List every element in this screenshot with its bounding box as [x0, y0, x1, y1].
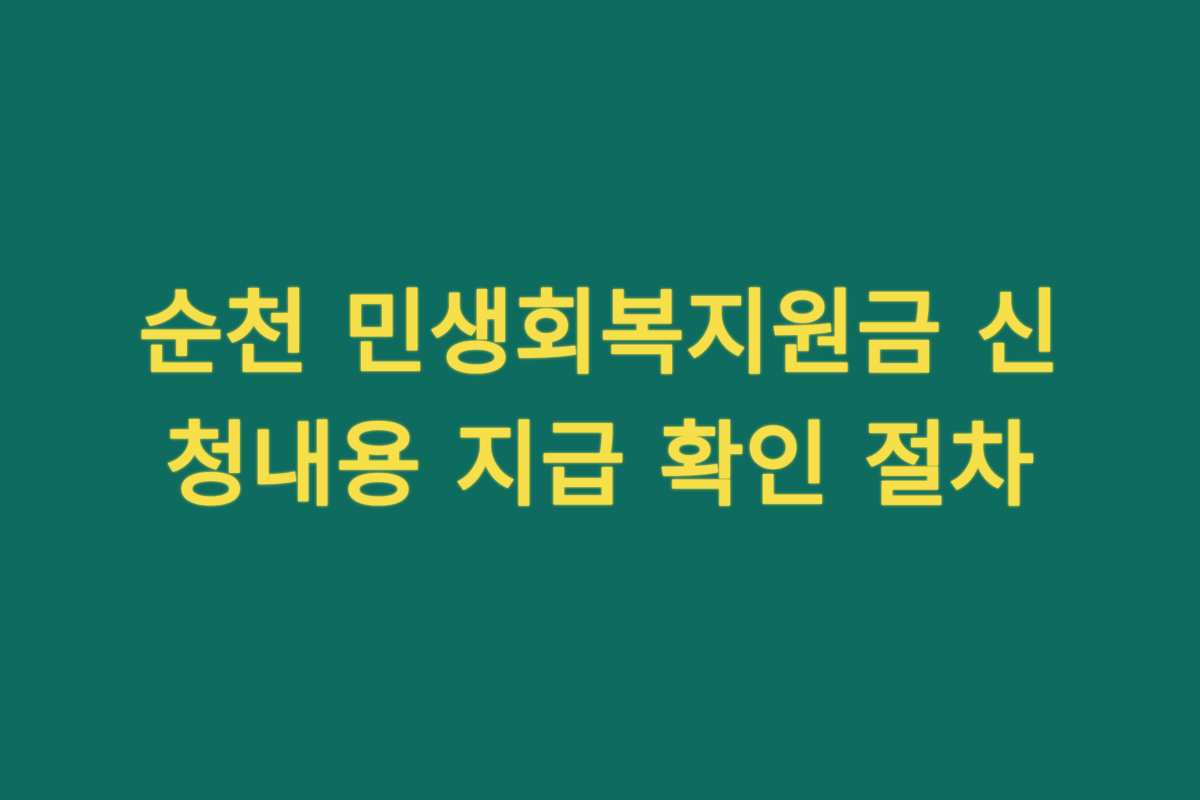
title-card: 순천 민생회복지원금 신 청내용 지급 확인 절차 [0, 0, 1200, 800]
title-line-1: 순천 민생회복지원금 신 [95, 275, 1105, 393]
title-text-block: 순천 민생회복지원금 신 청내용 지급 확인 절차 [95, 275, 1105, 525]
title-line-2: 청내용 지급 확인 절차 [95, 407, 1105, 525]
